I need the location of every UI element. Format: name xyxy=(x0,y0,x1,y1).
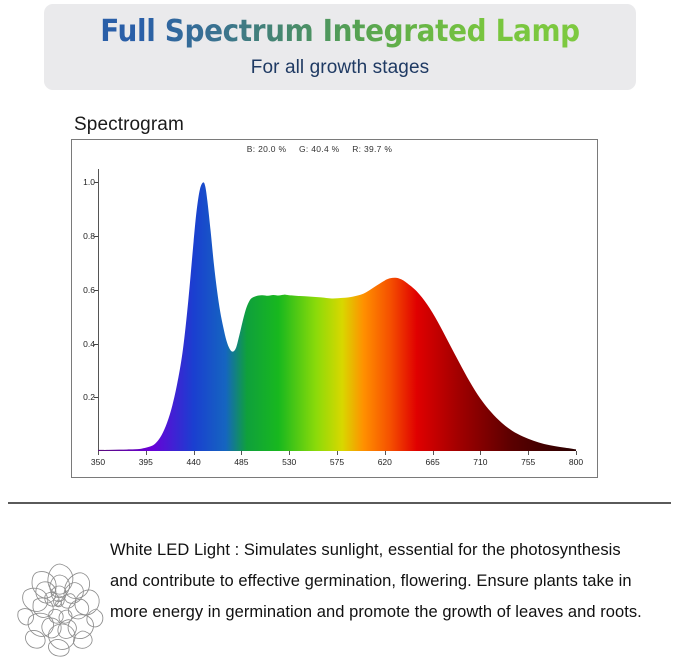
plot-area: 0.20.40.60.81.0 350395440485530575620665… xyxy=(98,169,576,451)
red-percentage: R: 39.7 % xyxy=(352,144,392,154)
section-divider xyxy=(8,502,671,504)
x-axis-tick-label: 350 xyxy=(91,457,105,467)
x-axis-tick-label: 485 xyxy=(234,457,248,467)
x-axis-tick-label: 575 xyxy=(330,457,344,467)
x-axis-tick-mark xyxy=(241,451,242,455)
x-axis-tick-label: 440 xyxy=(187,457,201,467)
x-axis-tick-label: 755 xyxy=(521,457,535,467)
x-axis-tick-mark xyxy=(385,451,386,455)
x-axis-tick-mark xyxy=(98,451,99,455)
x-axis-tick-mark xyxy=(337,451,338,455)
x-axis-tick-mark xyxy=(528,451,529,455)
x-axis-tick-mark xyxy=(433,451,434,455)
x-axis-tick-mark xyxy=(289,451,290,455)
x-axis-tick-label: 395 xyxy=(139,457,153,467)
x-axis-tick-label: 710 xyxy=(473,457,487,467)
green-percentage: G: 40.4 % xyxy=(299,144,340,154)
spectrum-curve xyxy=(98,169,576,451)
x-axis-tick-mark xyxy=(576,451,577,455)
blue-percentage: B: 20.0 % xyxy=(247,144,287,154)
header-banner: Full Spectrum Integrated Lamp For all gr… xyxy=(44,4,636,90)
page-title: Full Spectrum Integrated Lamp xyxy=(65,14,616,50)
x-axis-tick-label: 530 xyxy=(282,457,296,467)
x-axis-tick-label: 800 xyxy=(569,457,583,467)
page-subtitle: For all growth stages xyxy=(44,57,636,79)
spectrogram-heading: Spectrogram xyxy=(74,114,184,136)
rgb-percentage-readout: B: 20.0 % G: 40.4 % R: 39.7 % xyxy=(72,144,597,154)
succulent-flower-icon xyxy=(14,553,106,659)
x-axis-tick-label: 620 xyxy=(378,457,392,467)
x-axis-tick-mark xyxy=(194,451,195,455)
feature-description: White LED Light : Simulates sunlight, es… xyxy=(110,535,650,628)
x-axis-tick-mark xyxy=(480,451,481,455)
x-axis-tick-label: 665 xyxy=(426,457,440,467)
x-axis-tick-mark xyxy=(146,451,147,455)
spectrogram-chart: B: 20.0 % G: 40.4 % R: 39.7 % 0.20.40.60… xyxy=(71,139,598,478)
